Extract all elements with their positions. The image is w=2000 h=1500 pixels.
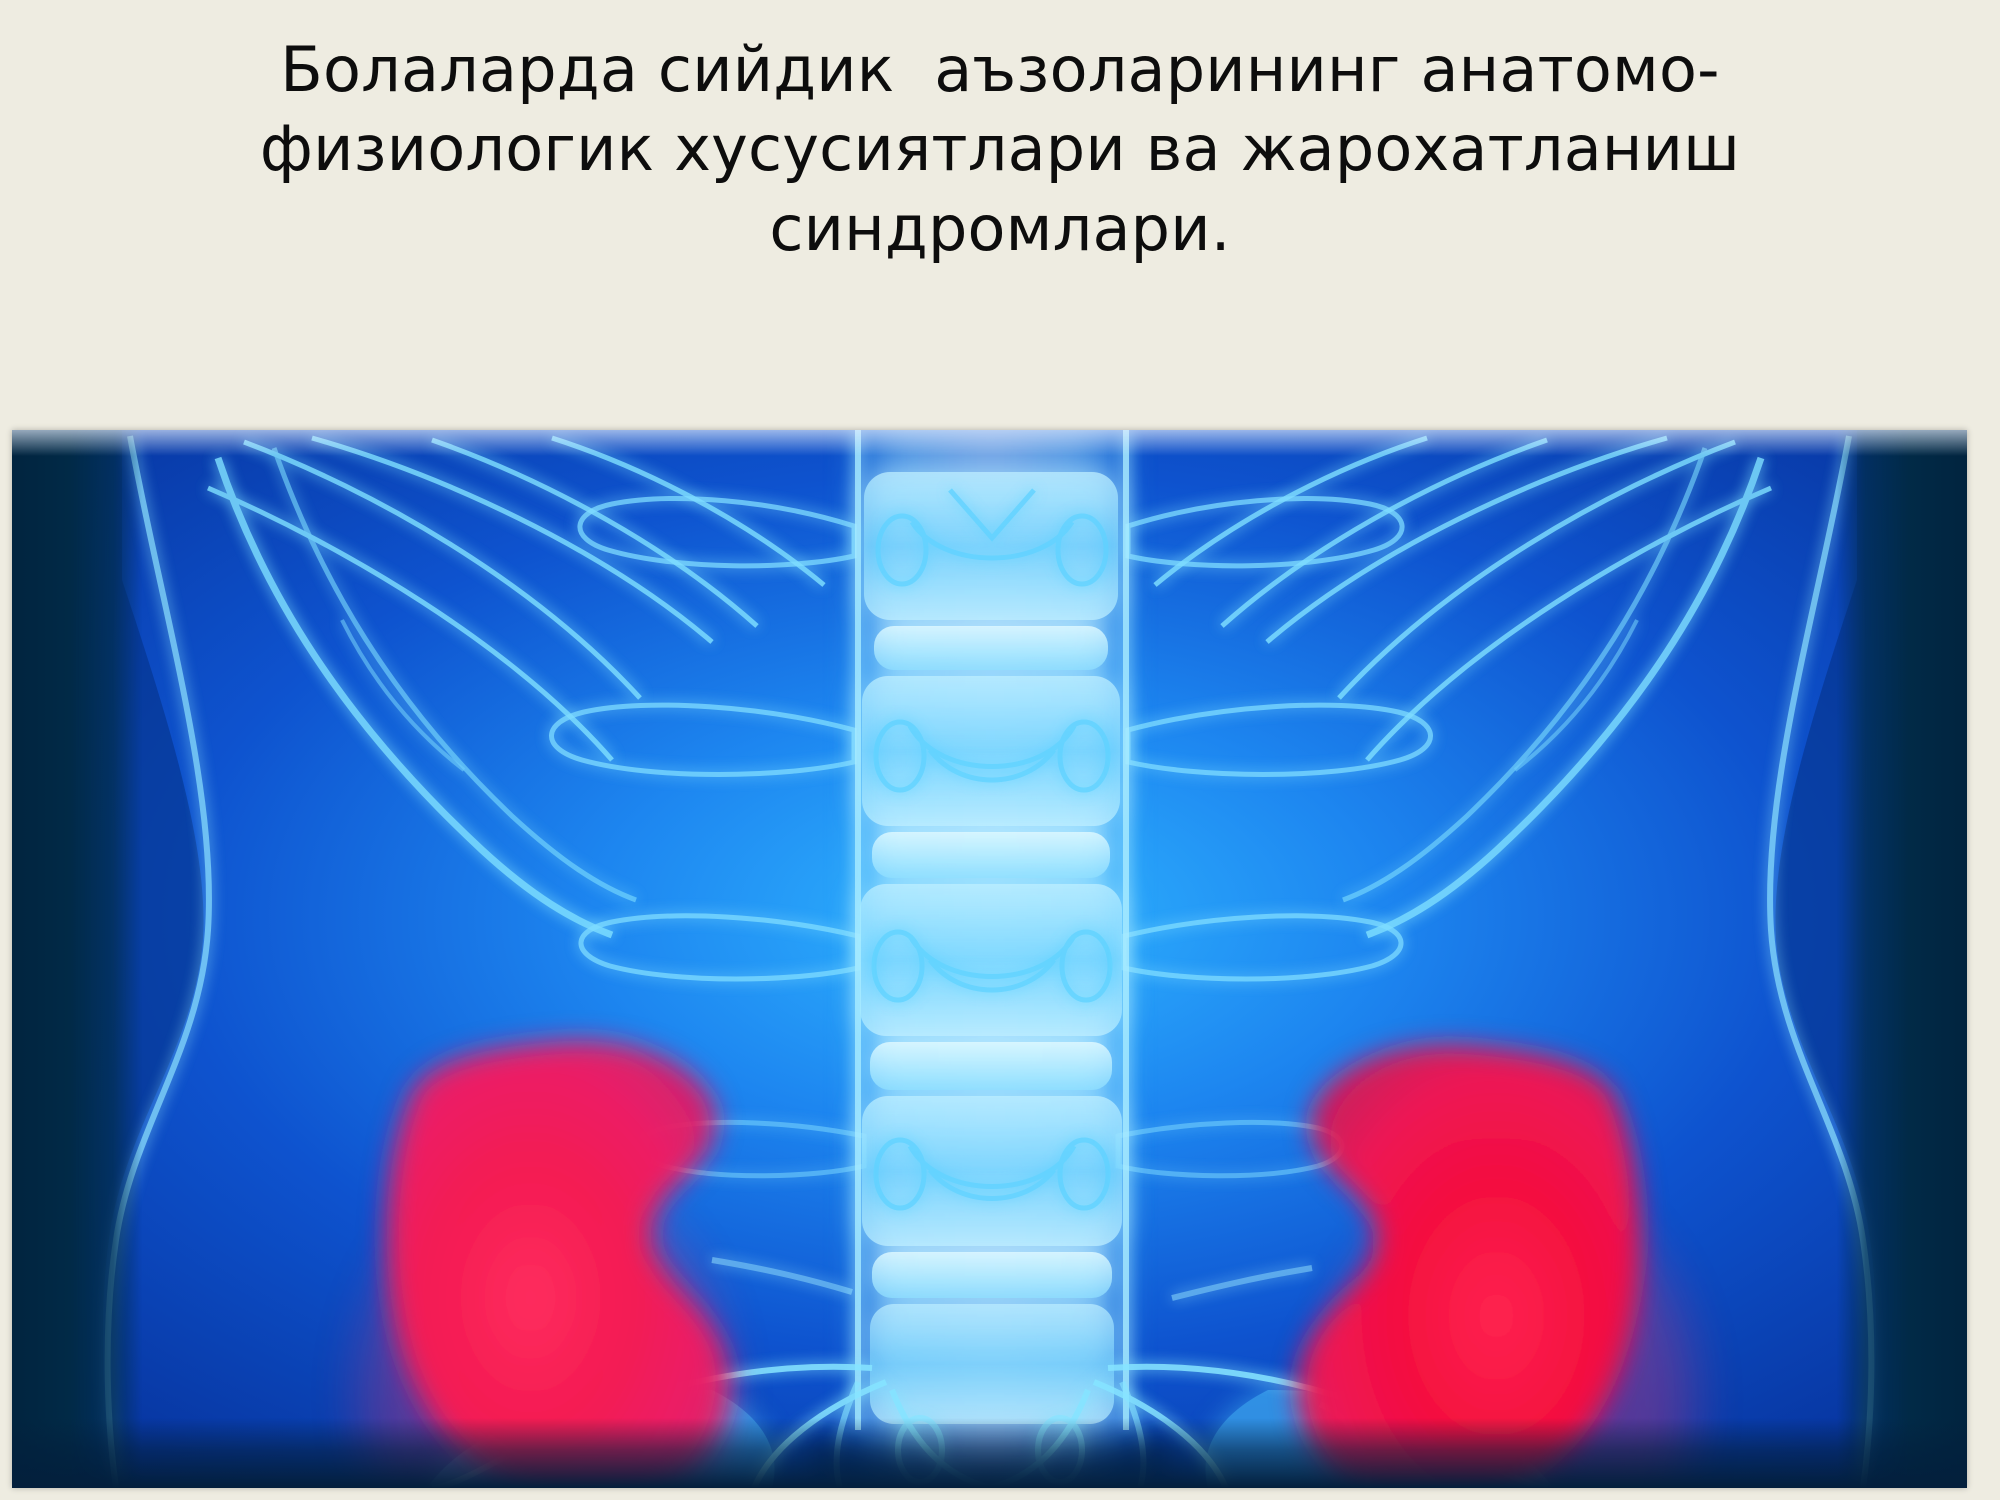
title-block: Болаларда сийдик аъзоларининг анатомо-фи…: [120, 30, 1880, 268]
page-title: Болаларда сийдик аъзоларининг анатомо-фи…: [120, 30, 1880, 268]
vertebral-bodies: [860, 472, 1122, 1424]
xray-image: [12, 430, 1967, 1488]
xray-illustration: [12, 430, 1967, 1488]
presentation-slide: Болаларда сийдик аъзоларининг анатомо-фи…: [0, 0, 2000, 1500]
